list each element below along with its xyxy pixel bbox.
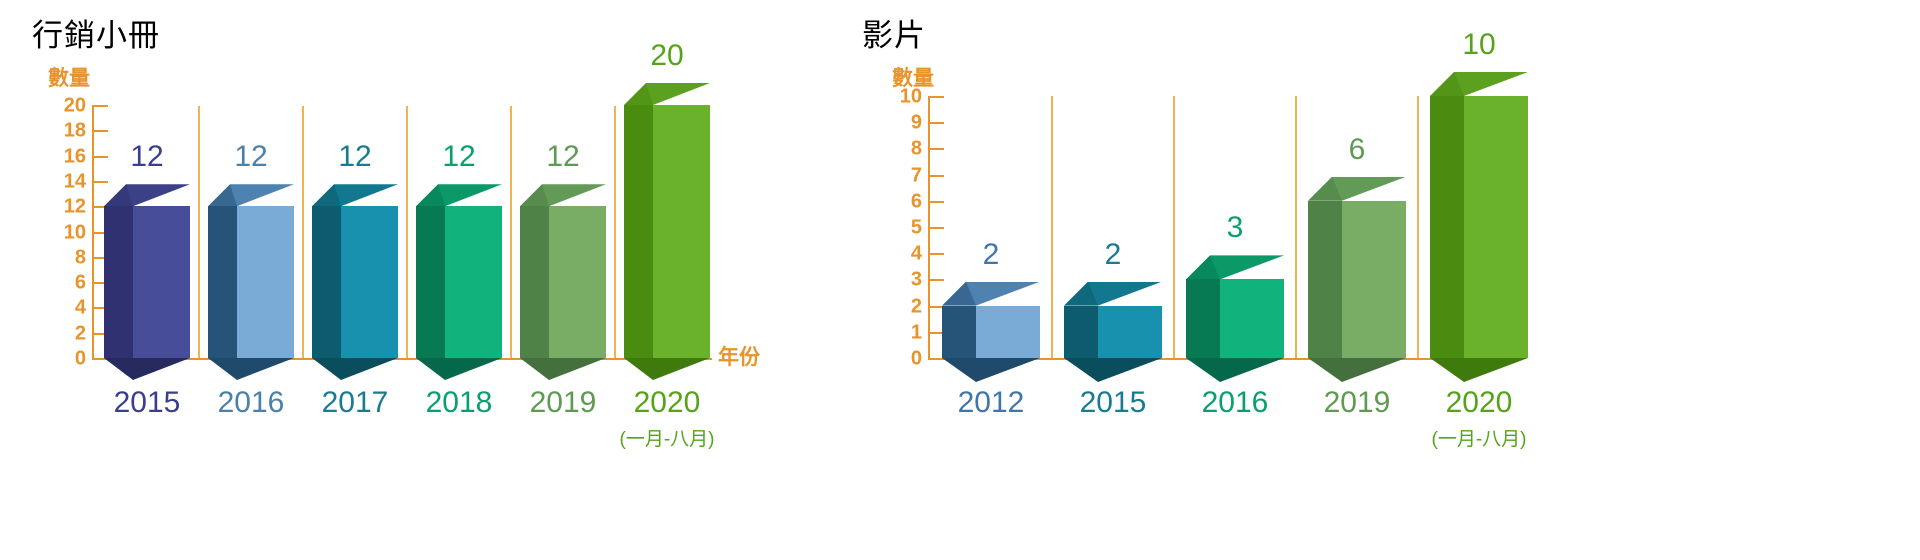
y-tick-label: 8 xyxy=(880,138,922,161)
bar-face-left xyxy=(1430,96,1464,358)
y-tick-mark xyxy=(928,148,944,150)
bar-value-label: 20 xyxy=(604,39,730,73)
y-tick-label: 0 xyxy=(880,348,922,371)
bar-face-left xyxy=(1064,306,1098,358)
bar-face-bottom-shade xyxy=(104,358,190,380)
bar-value-label: 12 xyxy=(500,140,626,174)
bar-value-label: 3 xyxy=(1166,211,1304,245)
y-tick-label: 2 xyxy=(880,295,922,318)
bar-face-top-shade xyxy=(416,184,502,206)
bar-2018[interactable] xyxy=(416,206,502,358)
y-tick-mark xyxy=(92,105,108,107)
bar-face-bottom-shade xyxy=(1186,358,1284,382)
y-tick-mark xyxy=(928,227,944,229)
bar-face-right xyxy=(549,206,606,358)
bar-face-right xyxy=(237,206,294,358)
bar-face-top xyxy=(1064,282,1162,306)
y-tick-label: 18 xyxy=(44,120,86,143)
bar-face-top xyxy=(312,184,398,206)
bar-face-left xyxy=(208,206,237,358)
y-tick-label: 6 xyxy=(44,272,86,295)
bar-face-bottom-shade xyxy=(1064,358,1162,382)
bar-face-bottom xyxy=(416,358,502,380)
y-tick-label: 4 xyxy=(880,243,922,266)
x-category-label: 2020 xyxy=(1404,386,1554,420)
bar-face-left xyxy=(104,206,133,358)
bar-face-left xyxy=(520,206,549,358)
bar-face-right xyxy=(653,105,710,358)
y-tick-label: 14 xyxy=(44,170,86,193)
bar-2017[interactable] xyxy=(312,206,398,358)
bar-face-bottom xyxy=(1430,358,1528,382)
bar-face-left xyxy=(416,206,445,358)
category-separator xyxy=(1417,96,1419,358)
y-tick-label: 6 xyxy=(880,190,922,213)
bar-face-bottom-shade xyxy=(1308,358,1406,382)
bar-2020[interactable] xyxy=(1430,96,1528,358)
chart-panel-brochures: 行銷小冊 數量 年份 20181614121086420122015122016… xyxy=(0,0,830,560)
bar-face-top-shade xyxy=(520,184,606,206)
bar-face-bottom xyxy=(1186,358,1284,382)
y-tick-label: 8 xyxy=(44,246,86,269)
y-tick-mark xyxy=(92,130,108,132)
bar-face-bottom-shade xyxy=(312,358,398,380)
bar-2015[interactable] xyxy=(104,206,190,358)
bar-face-top-shade xyxy=(942,282,1040,306)
y-tick-label: 3 xyxy=(880,269,922,292)
bar-face-top-shade xyxy=(624,83,710,105)
bar-face-top xyxy=(624,83,710,105)
bar-face-bottom xyxy=(624,358,710,380)
bar-face-right xyxy=(133,206,190,358)
bar-face-left xyxy=(312,206,341,358)
bar-face-right xyxy=(1220,279,1284,358)
bar-2019[interactable] xyxy=(1308,201,1406,358)
bar-face-top xyxy=(416,184,502,206)
y-tick-label: 9 xyxy=(880,112,922,135)
bar-value-label: 10 xyxy=(1410,28,1548,62)
y-tick-label: 7 xyxy=(880,164,922,187)
y-tick-mark xyxy=(92,181,108,183)
bar-face-top xyxy=(1308,177,1406,201)
bar-face-top xyxy=(104,184,190,206)
y-tick-label: 4 xyxy=(44,297,86,320)
bar-face-top-shade xyxy=(1186,255,1284,279)
y-tick-label: 16 xyxy=(44,145,86,168)
bar-face-top-shade xyxy=(1064,282,1162,306)
bar-face-right xyxy=(341,206,398,358)
bar-face-left xyxy=(624,105,653,358)
bar-face-right xyxy=(1342,201,1406,358)
bar-face-bottom xyxy=(1064,358,1162,382)
y-tick-label: 5 xyxy=(880,217,922,240)
y-tick-label: 12 xyxy=(44,196,86,219)
y-tick-label: 10 xyxy=(44,221,86,244)
x-category-sublabel: (一月-八月) xyxy=(1390,424,1568,451)
bar-2020[interactable] xyxy=(624,105,710,358)
bar-face-top-shade xyxy=(104,184,190,206)
bar-face-left xyxy=(1186,279,1220,358)
y-tick-label: 1 xyxy=(880,321,922,344)
y-tick-label: 20 xyxy=(44,95,86,118)
bar-face-bottom xyxy=(312,358,398,380)
plot-area-brochures: 2018161412108642012201512201612201712201… xyxy=(0,0,830,560)
plot-area-videos: 10987654321022012220153201662019102020(一… xyxy=(830,0,1920,560)
bar-face-top-shade xyxy=(312,184,398,206)
bar-2016[interactable] xyxy=(208,206,294,358)
bar-face-bottom xyxy=(104,358,190,380)
bar-face-left xyxy=(1308,201,1342,358)
x-category-sublabel: (一月-八月) xyxy=(584,424,750,451)
y-tick-mark xyxy=(928,175,944,177)
category-separator xyxy=(1051,96,1053,358)
bar-face-top xyxy=(1430,72,1528,96)
y-tick-mark xyxy=(928,122,944,124)
bar-face-bottom-shade xyxy=(208,358,294,380)
chart-panel-videos: 影片 數量 年份 1098765432102201222015320166201… xyxy=(830,0,1920,560)
y-tick-mark xyxy=(928,201,944,203)
y-tick-label: 2 xyxy=(44,322,86,345)
bar-value-label: 6 xyxy=(1288,133,1426,167)
bar-face-bottom-shade xyxy=(942,358,1040,382)
y-tick-mark xyxy=(928,279,944,281)
bar-face-bottom-shade xyxy=(624,358,710,380)
x-category-label: 2020 xyxy=(598,386,736,420)
bar-face-left xyxy=(942,306,976,358)
bar-2019[interactable] xyxy=(520,206,606,358)
bar-face-bottom xyxy=(1308,358,1406,382)
bar-2016[interactable] xyxy=(1186,279,1284,358)
bar-face-top xyxy=(520,184,606,206)
y-tick-label: 0 xyxy=(44,348,86,371)
bar-face-bottom xyxy=(208,358,294,380)
bar-face-top xyxy=(208,184,294,206)
y-tick-label: 10 xyxy=(880,86,922,109)
bar-face-right xyxy=(976,306,1040,358)
bar-face-bottom xyxy=(942,358,1040,382)
bar-face-top-shade xyxy=(208,184,294,206)
bar-face-top xyxy=(1186,255,1284,279)
bar-face-bottom-shade xyxy=(520,358,606,380)
bar-face-top-shade xyxy=(1308,177,1406,201)
dual-bar-chart-page: 行銷小冊 數量 年份 20181614121086420122015122016… xyxy=(0,0,1920,560)
bar-2012[interactable] xyxy=(942,306,1040,358)
bar-face-top-shade xyxy=(1430,72,1528,96)
y-tick-mark xyxy=(928,96,944,98)
bar-face-right xyxy=(1098,306,1162,358)
bar-value-label: 2 xyxy=(1044,238,1182,272)
bar-face-bottom xyxy=(520,358,606,380)
bar-face-right xyxy=(1464,96,1528,358)
bar-face-right xyxy=(445,206,502,358)
category-separator xyxy=(614,106,616,358)
bar-face-bottom-shade xyxy=(1430,358,1528,382)
bar-face-bottom-shade xyxy=(416,358,502,380)
bar-face-top xyxy=(942,282,1040,306)
bar-value-label: 2 xyxy=(922,238,1060,272)
bar-2015[interactable] xyxy=(1064,306,1162,358)
